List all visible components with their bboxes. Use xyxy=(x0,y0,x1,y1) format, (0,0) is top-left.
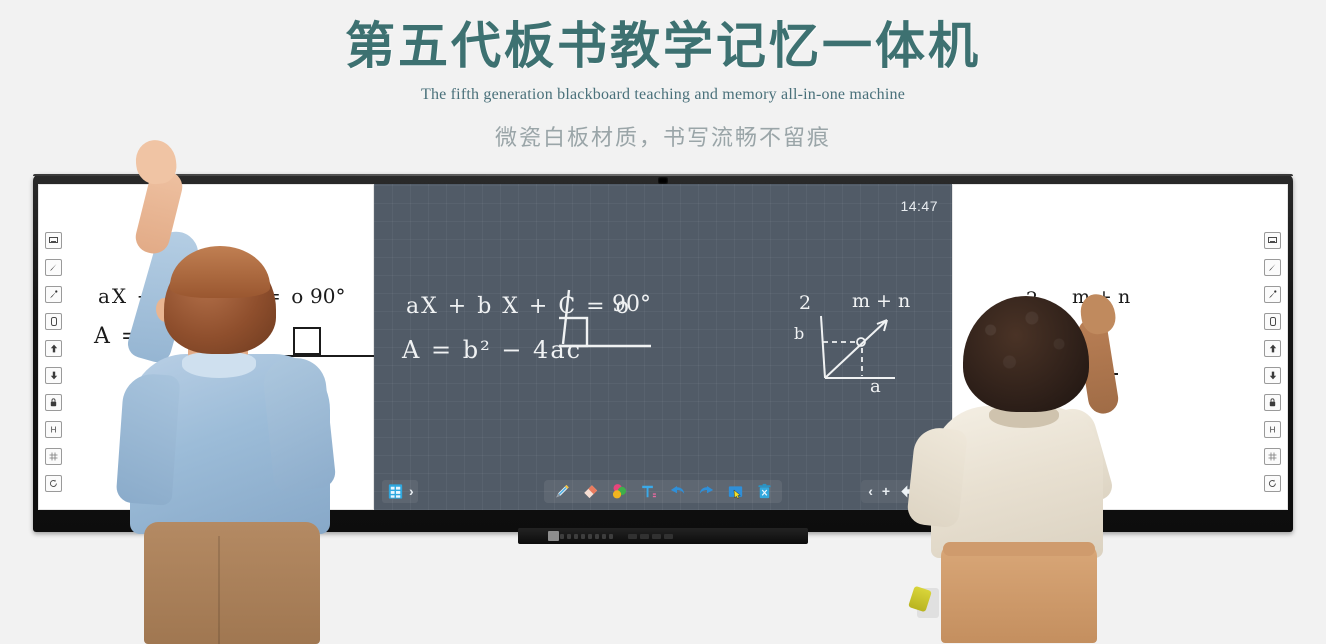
port-wide xyxy=(628,534,637,539)
back-arrow-icon[interactable] xyxy=(899,482,918,501)
pen-thick-icon[interactable] xyxy=(1264,286,1281,303)
camera-icon xyxy=(658,177,668,184)
port-wide xyxy=(664,534,673,539)
grid-icon[interactable] xyxy=(1264,448,1281,465)
pen-thin-icon[interactable] xyxy=(1264,259,1281,276)
screen-area: H aX + b X + C = o A = b² − 4ac 90° 14:4… xyxy=(38,184,1288,510)
select-icon[interactable] xyxy=(726,482,745,501)
bezel-highlight xyxy=(33,174,1293,176)
lock-icon[interactable] xyxy=(45,394,62,411)
pen-thin-icon[interactable] xyxy=(45,259,62,276)
svg-text:H: H xyxy=(1270,425,1276,434)
right-board-vector-diagram xyxy=(1022,308,1142,386)
port xyxy=(581,534,585,539)
undo-icon[interactable] xyxy=(668,482,687,501)
port xyxy=(609,534,613,539)
page-subtitle-chinese: 微瓷白板材质，书写流畅不留痕 xyxy=(0,120,1326,152)
left-board-equation-line2: A = b² − 4ac xyxy=(94,324,261,349)
page-down-icon[interactable] xyxy=(1264,367,1281,384)
left-whiteboard-panel[interactable]: H aX + b X + C = o A = b² − 4ac 90° xyxy=(38,184,374,510)
port xyxy=(574,534,578,539)
add-page-icon[interactable]: + xyxy=(882,484,890,498)
color-palette-icon[interactable] xyxy=(610,482,629,501)
grid-icon[interactable] xyxy=(45,448,62,465)
female-trousers xyxy=(941,544,1097,643)
expand-panel-chevron-icon[interactable]: › xyxy=(409,484,414,498)
page-title-chinese: 第五代板书教学记忆一体机 xyxy=(0,18,1326,76)
right-board-label-left: 2 xyxy=(1026,288,1038,310)
clock-display: 14:47 xyxy=(900,198,938,214)
device-stand-base xyxy=(518,528,808,544)
text-tool-icon[interactable] xyxy=(639,482,658,501)
female-waistband xyxy=(943,542,1095,556)
female-pocket xyxy=(917,588,939,618)
port-wide xyxy=(640,534,649,539)
eraser-icon[interactable] xyxy=(581,482,600,501)
page-title-english: The fifth generation blackboard teaching… xyxy=(0,86,1326,104)
center-vector-label-top: m + n xyxy=(852,290,910,312)
page-up-icon[interactable] xyxy=(1264,340,1281,357)
refresh-icon[interactable] xyxy=(45,475,62,492)
left-board-icon-rail: H xyxy=(45,232,62,492)
redo-icon[interactable] xyxy=(697,482,716,501)
trash-icon[interactable] xyxy=(755,482,774,501)
pen-thick-icon[interactable] xyxy=(45,286,62,303)
eraser-icon[interactable] xyxy=(45,313,62,330)
magnet-icon[interactable]: H xyxy=(45,421,62,438)
center-screen-toolbar: › xyxy=(374,478,952,504)
center-display-screen[interactable]: 14:47 aX + b X + C = o A = b² − 4ac 90° … xyxy=(374,184,952,510)
port-wide xyxy=(652,534,661,539)
port xyxy=(560,534,564,539)
screen-icon[interactable] xyxy=(45,232,62,249)
marker-pen-icon xyxy=(908,586,932,612)
svg-text:H: H xyxy=(51,425,57,434)
port xyxy=(595,534,599,539)
toolbar-page-nav-group: ‹ + 1/1 xyxy=(861,480,948,503)
all-in-one-machine: H aX + b X + C = o A = b² − 4ac 90° 14:4… xyxy=(33,174,1293,532)
refresh-icon[interactable] xyxy=(1264,475,1281,492)
center-vector-diagram xyxy=(799,312,919,390)
right-board-icon-rail: H xyxy=(1264,232,1281,492)
lock-icon[interactable] xyxy=(1264,394,1281,411)
port xyxy=(588,534,592,539)
page-indicator: 1/1 xyxy=(927,486,941,497)
magnet-icon[interactable]: H xyxy=(1264,421,1281,438)
menu-list-icon[interactable] xyxy=(386,482,405,501)
page-up-icon[interactable] xyxy=(45,340,62,357)
left-board-equation-line1: aX + b X + C = o xyxy=(98,284,305,308)
toolbar-menu-group[interactable]: › xyxy=(382,480,418,503)
male-trouser-seam xyxy=(218,536,220,644)
page-header: 第五代板书教学记忆一体机 The fifth generation blackb… xyxy=(0,0,1326,152)
right-board-label-top: m + n xyxy=(1072,286,1130,308)
port xyxy=(567,534,571,539)
center-equation-line2: A = b² − 4ac xyxy=(402,336,582,364)
eraser-icon[interactable] xyxy=(1264,313,1281,330)
port xyxy=(602,534,606,539)
left-board-angle-diagram xyxy=(278,324,374,369)
prev-page-icon[interactable]: ‹ xyxy=(868,484,873,498)
toolbar-tools-group xyxy=(544,480,782,503)
page-down-icon[interactable] xyxy=(45,367,62,384)
pen-icon[interactable] xyxy=(552,482,571,501)
right-whiteboard-panel[interactable]: H 2 m + n b a xyxy=(952,184,1288,510)
left-board-angle-label: 90° xyxy=(310,284,345,308)
screen-icon[interactable] xyxy=(1264,232,1281,249)
male-trousers xyxy=(144,522,320,644)
stand-logo-icon xyxy=(548,531,559,541)
